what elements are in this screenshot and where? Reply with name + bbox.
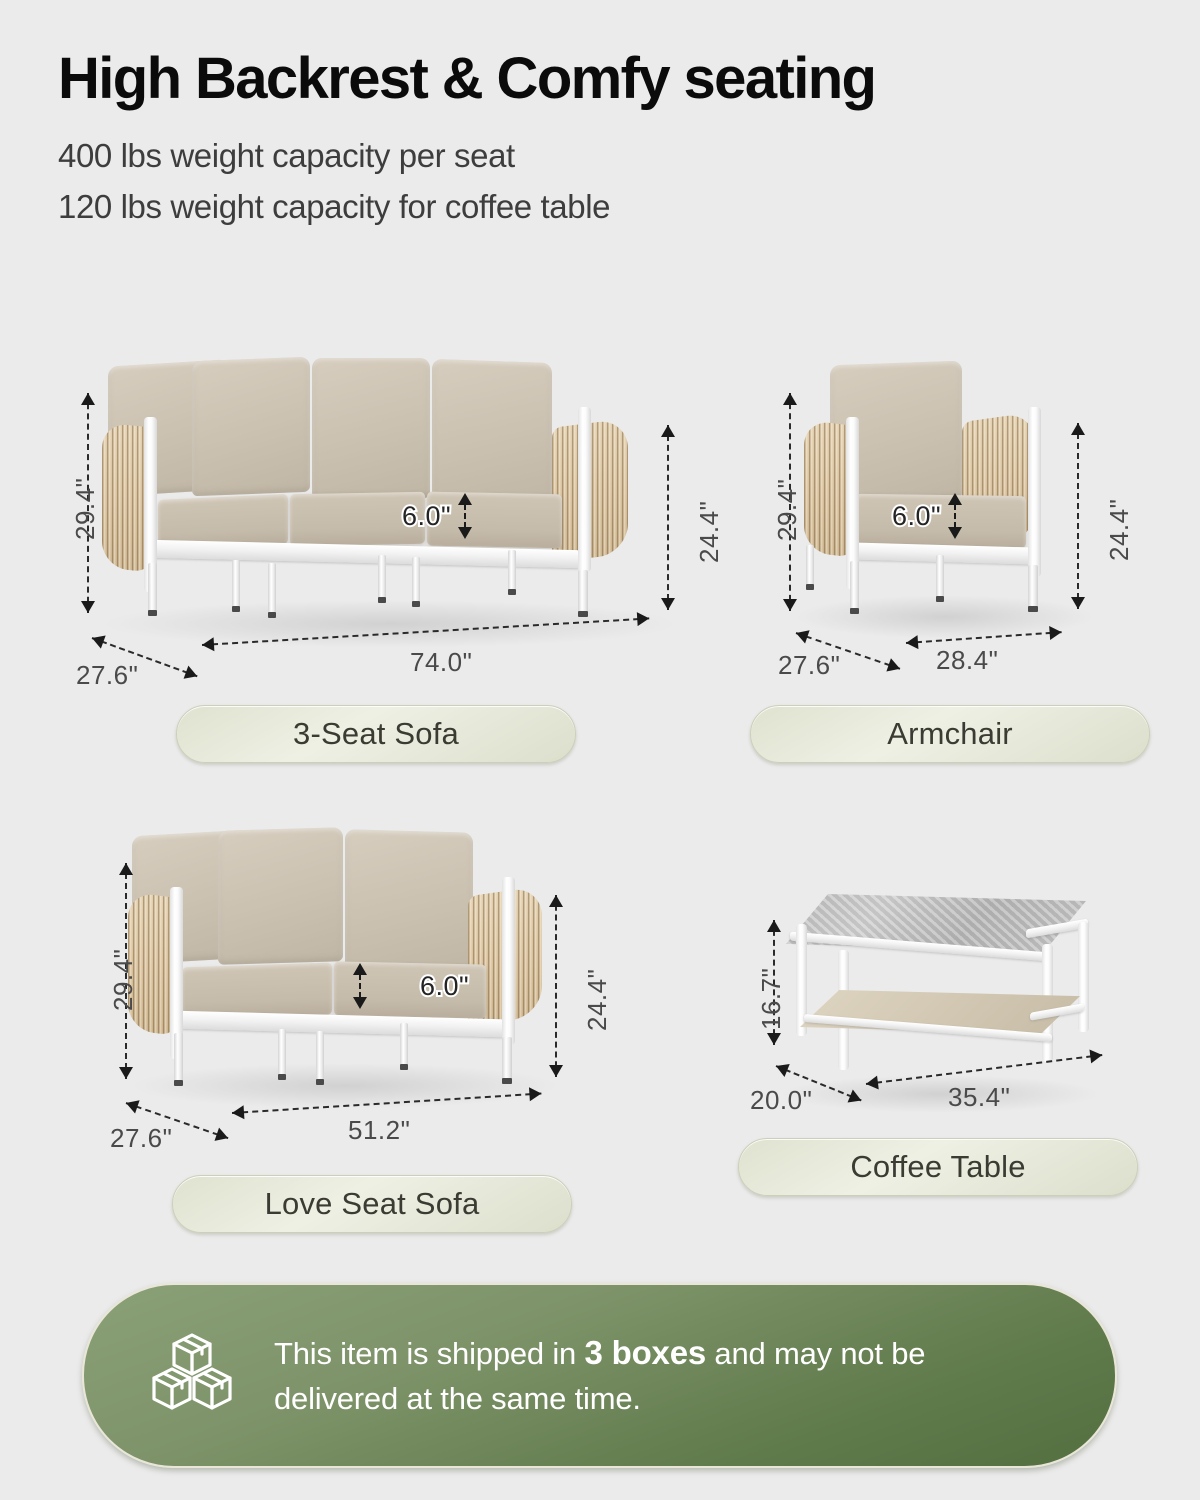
leg-front-right — [578, 570, 588, 612]
product-label-armchair[interactable]: Armchair — [750, 705, 1150, 763]
dimension-seat-thickness-love-seat-sofa: 6.0" — [352, 963, 469, 1009]
shipping-banner-text: This item is shipped in 3 boxes and may … — [274, 1329, 925, 1422]
product-label-three-seat-sofa[interactable]: 3-Seat Sofa — [176, 705, 576, 763]
banner-text-before: This item is shipped in — [274, 1336, 585, 1371]
love-seat-sofa-illustration — [70, 815, 630, 1125]
leg-mid-2 — [316, 1031, 324, 1080]
dimension-height-label-three-seat-sofa: 29.4" — [70, 478, 101, 540]
back-cushion-3 — [432, 359, 552, 506]
leg-front-left — [850, 561, 859, 609]
product-cell-armchair: 29.4" 24.4" 6.0" 27.6" — [740, 345, 1160, 775]
banner-text-line2: delivered at the same time. — [274, 1381, 641, 1416]
leg-mid-4 — [412, 557, 420, 602]
leg-front-right — [1028, 565, 1038, 607]
dimension-back-height-armchair — [1070, 423, 1086, 609]
dimension-depth-label-love-seat-sofa: 27.6" — [110, 1123, 172, 1154]
table-leg-rear-right — [1078, 922, 1089, 1032]
product-label-text-three-seat-sofa: 3-Seat Sofa — [293, 716, 459, 752]
product-cell-coffee-table: 16.7" 20.0" 35.4" Coffee Table — [730, 880, 1160, 1245]
product-label-text-armchair: Armchair — [887, 716, 1013, 752]
subtitle-line-2: 120 lbs weight capacity for coffee table — [58, 182, 1148, 232]
leg-front-left — [148, 563, 157, 611]
back-cushion-2 — [312, 358, 430, 498]
dimension-depth-label-armchair: 27.6" — [778, 650, 840, 681]
product-label-coffee-table[interactable]: Coffee Table — [738, 1138, 1138, 1196]
back-cushion-1 — [192, 357, 310, 497]
dimension-depth-label-three-seat-sofa: 27.6" — [76, 660, 138, 691]
leg-front-left — [174, 1033, 183, 1081]
dimension-depth-label-coffee-table: 20.0" — [750, 1085, 812, 1116]
subtitle-line-1: 400 lbs weight capacity per seat — [58, 131, 1148, 181]
leg-mid-2 — [268, 563, 276, 613]
dimension-seat-thickness-label-armchair: 6.0" — [892, 501, 941, 532]
leg-mid-1 — [232, 560, 240, 607]
seat-thickness-arrows — [947, 493, 963, 539]
frame-post-right — [578, 407, 591, 572]
seat-thickness-arrows — [352, 963, 368, 1009]
dimension-back-height-label-love-seat-sofa: 24.4" — [582, 969, 613, 1031]
dimension-seat-thickness-label-three-seat-sofa: 6.0" — [402, 501, 451, 532]
banner-text-bold: 3 boxes — [585, 1334, 707, 1371]
dimension-height-label-love-seat-sofa: 29.4" — [108, 949, 139, 1011]
dimension-back-height-label-three-seat-sofa: 24.4" — [694, 501, 725, 563]
product-spec-infographic: High Backrest & Comfy seating 400 lbs we… — [0, 0, 1200, 1500]
dimension-height-label-armchair: 29.4" — [772, 479, 803, 541]
leg-mid-1 — [278, 1029, 286, 1075]
dimension-width-label-love-seat-sofa: 51.2" — [348, 1115, 410, 1146]
dimension-back-height-three-seat-sofa — [660, 425, 676, 610]
product-cell-love-seat-sofa: 29.4" 24.4" 6.0" 27.6" 51.2" — [70, 815, 630, 1245]
product-label-text-love-seat-sofa: Love Seat Sofa — [265, 1186, 480, 1222]
product-cell-three-seat-sofa: 29.4" 24.4" 6.0" 27.6" — [40, 345, 720, 775]
product-label-text-coffee-table: Coffee Table — [850, 1149, 1025, 1185]
leg-mid-3 — [378, 555, 386, 598]
back-cushion-2 — [345, 829, 473, 973]
back-cushion-1 — [218, 827, 343, 964]
frame-post-right — [502, 877, 515, 1045]
dimension-seat-thickness-label-love-seat-sofa: 6.0" — [420, 971, 469, 1002]
three-boxes-icon — [146, 1327, 238, 1424]
dimension-height-label-coffee-table: 16.7" — [756, 968, 787, 1030]
leg-mid-3 — [400, 1023, 408, 1065]
dimension-width-label-armchair: 28.4" — [936, 645, 998, 676]
dimension-back-height-love-seat-sofa — [548, 895, 564, 1077]
subtitle-block: 400 lbs weight capacity per seat 120 lbs… — [58, 131, 1148, 231]
header: High Backrest & Comfy seating 400 lbs we… — [58, 48, 1148, 232]
dimension-back-height-label-armchair: 24.4" — [1104, 499, 1135, 561]
leg-rear-left — [806, 545, 814, 585]
page-title: High Backrest & Comfy seating — [58, 48, 1148, 109]
shipping-banner: This item is shipped in 3 boxes and may … — [82, 1283, 1117, 1468]
dimension-seat-thickness-three-seat-sofa: 6.0" — [402, 493, 473, 539]
product-label-love-seat-sofa[interactable]: Love Seat Sofa — [172, 1175, 572, 1233]
frame-post-right — [1028, 407, 1041, 577]
seat-thickness-arrows — [457, 493, 473, 539]
banner-text-after: and may not be — [706, 1336, 925, 1371]
leg-rear-right — [508, 550, 516, 590]
leg-front-right — [502, 1037, 512, 1079]
dimension-width-label-coffee-table: 35.4" — [948, 1082, 1010, 1113]
leg-mid — [936, 555, 944, 597]
dimension-width-label-three-seat-sofa: 74.0" — [410, 647, 472, 678]
dimension-seat-thickness-armchair: 6.0" — [892, 493, 963, 539]
